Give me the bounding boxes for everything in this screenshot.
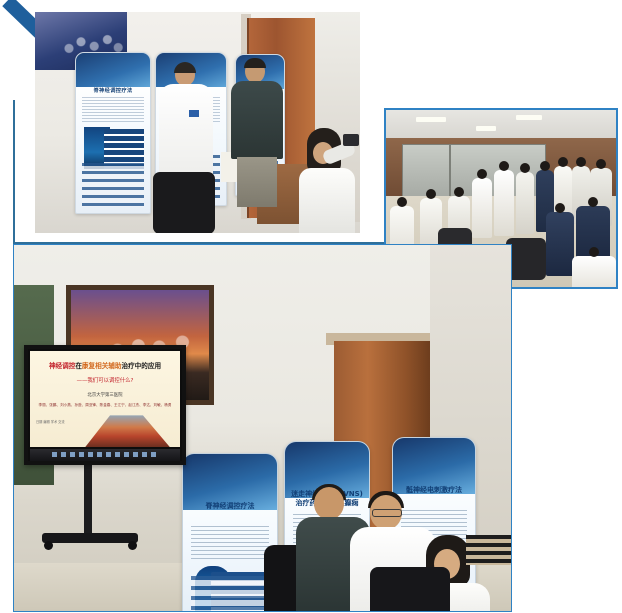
head (477, 169, 487, 179)
head (589, 247, 599, 257)
slide-title-highlight: 康复相关辅助 (82, 362, 122, 370)
slide-title-suffix: 治疗中的应用 (121, 362, 161, 370)
taskbar-app-icon[interactable] (133, 452, 138, 457)
name-badge (189, 110, 199, 117)
monitor-stand-base (42, 533, 138, 543)
head (454, 187, 464, 197)
taskbar-app-icon[interactable] (79, 452, 84, 457)
collage-page: 脊神经调控疗法 (0, 0, 622, 613)
banner-title: 脊神经调控疗法 (187, 502, 273, 511)
lecture-hall-photo[interactable]: 脊神经调控疗法 迷走神经刺激术(VNS) 治疗药物难治性癫痫 骶神经电刺激疗法 (13, 244, 512, 612)
slide-authors: 李丽、张鹏、刘小燕、孙逊、周亚锋、陈金春、王江宁、赵江杰、李达、刘敏、杨勇 (34, 403, 176, 408)
banner-body-text (191, 526, 269, 560)
taskbar-app-icon[interactable] (124, 452, 129, 457)
taskbar-app-icon[interactable] (97, 452, 102, 457)
slide-title: 神经调控在康复相关辅助治疗中的应用 (34, 360, 176, 370)
slide-subtitle: ——我们可以调控什么? (34, 376, 176, 384)
person-dark-polo (231, 60, 283, 205)
banner-footer-table (191, 576, 269, 612)
person-camera-operator (299, 128, 360, 233)
taskbar[interactable] (30, 449, 180, 461)
head (397, 197, 407, 207)
banner-body-text (82, 97, 144, 123)
slide-footer: 日期 编辑 学术 交流 (36, 419, 65, 424)
slide-artwork (75, 411, 178, 447)
office-chair (506, 238, 546, 280)
head (576, 157, 586, 167)
polo-shirt (231, 81, 283, 159)
head (555, 203, 565, 213)
head (499, 161, 509, 171)
ceiling-light-icon (476, 126, 496, 131)
presentation-monitor[interactable]: 神经调控在康复相关辅助治疗中的应用 ——我们可以调控什么? 北京大学第三医院 李… (24, 345, 186, 465)
trousers (237, 157, 277, 207)
person-standing-white-coat (472, 178, 492, 238)
banner-header (76, 53, 150, 87)
taskbar-app-icon[interactable] (88, 452, 93, 457)
head (588, 197, 598, 207)
head (426, 189, 436, 199)
book-stack (466, 535, 512, 565)
taskbar-app-icon[interactable] (115, 452, 120, 457)
head (540, 161, 550, 171)
slide-title-mid: 在 (75, 362, 82, 370)
taskbar-app-icon[interactable] (61, 452, 66, 457)
white-coat (299, 168, 355, 233)
head (558, 157, 568, 167)
slide-page: 神经调控在康复相关辅助治疗中的应用 ——我们可以调控什么? 北京大学第三医院 李… (30, 351, 180, 447)
caster-wheel-icon (128, 541, 137, 550)
banner-footer-table (82, 163, 144, 207)
taskbar-app-icon[interactable] (142, 452, 147, 457)
slide-affiliation: 北京大学第三医院 (34, 392, 176, 398)
photo-scene: 脊神经调控疗法 (35, 12, 360, 233)
person-seated-scrubs (546, 212, 574, 276)
photo-scene: 脊神经调控疗法 迷走神经刺激术(VNS) 治疗药物难治性癫痫 骶神经电刺激疗法 (14, 245, 511, 611)
caster-wheel-icon (44, 541, 53, 550)
person-foreground-white-coat (572, 256, 616, 289)
banner-title: 骶神经电刺激疗法 (397, 486, 471, 495)
person-standing-white-coat (516, 172, 534, 234)
head (314, 487, 344, 520)
rollup-banner-1: 脊神经调控疗法 (75, 52, 151, 214)
taskbar-app-icon[interactable] (106, 452, 111, 457)
hair (174, 62, 196, 73)
ceiling-light-icon (416, 117, 446, 122)
vertical-rule-icon (13, 100, 15, 244)
taskbar-app-icon[interactable] (52, 452, 57, 457)
monitor-stand-pole (84, 465, 92, 537)
head (596, 159, 606, 169)
taskbar-app-icon[interactable] (151, 452, 156, 457)
taskbar-app-icon[interactable] (70, 452, 75, 457)
hair (244, 58, 266, 68)
seminar-speakers-photo[interactable]: 脊神经调控疗法 (35, 12, 360, 233)
head (520, 163, 530, 173)
ceiling-light-icon (516, 115, 542, 120)
slide-title-prefix: 神经调控 (49, 362, 75, 370)
person-standing-white-coat (494, 170, 514, 236)
office-chair (153, 172, 215, 233)
banner-title: 脊神经调控疗法 (80, 87, 146, 94)
office-chair (370, 567, 450, 612)
glasses-icon (372, 509, 402, 517)
camera-icon (343, 134, 359, 146)
